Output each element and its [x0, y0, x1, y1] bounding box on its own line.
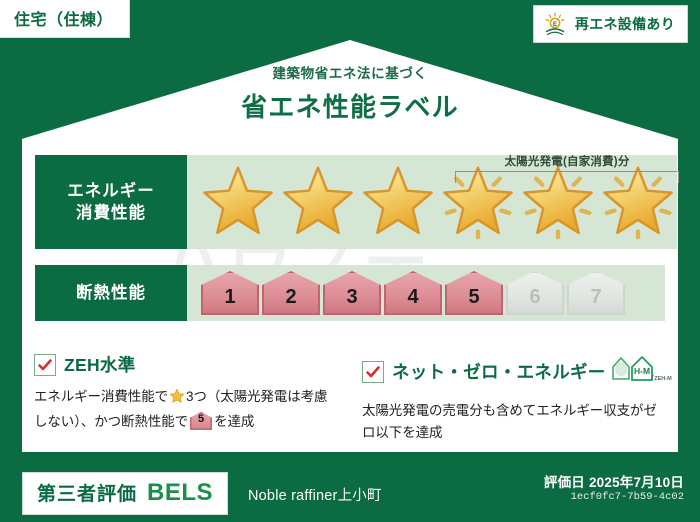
star-1 [199, 163, 277, 241]
insulation-grade-7: 7 [567, 271, 625, 315]
energy-consumption-row: エネルギー 消費性能 太陽光発電(自家消費)分 [35, 155, 665, 249]
page-title: 建築物省エネ法に基づく 省エネ性能ラベル [0, 62, 700, 124]
energy-consumption-label: エネルギー 消費性能 [35, 155, 187, 249]
bels-badge: 第三者評価 BELS [22, 472, 228, 515]
insulation-grades-panel: 1234567 [187, 265, 665, 321]
grade-number: 4 [407, 286, 418, 315]
grade-number: 5 [468, 286, 479, 315]
star-3 [359, 163, 437, 241]
insulation-performance-row: 断熱性能 1234567 [35, 265, 665, 321]
grade-number: 7 [590, 286, 601, 315]
zeh-text-part1: エネルギー消費性能で [34, 389, 168, 404]
zeh-m-logo-text: H-M [634, 366, 650, 376]
inline-grade-badge: 5 [190, 412, 212, 430]
footer: 第三者評価 BELS Noble raffiner上小町 評価日 2025年7月… [0, 460, 700, 522]
insulation-grade-1: 1 [201, 271, 259, 315]
zeh-title: ZEH水準 [64, 352, 136, 377]
zeh-checkbox [34, 354, 56, 376]
insulation-grade-2: 2 [262, 271, 320, 315]
insulation-label-text: 断熱性能 [76, 282, 146, 304]
energy-label-line2: 消費性能 [76, 202, 146, 224]
grade-number: 3 [346, 286, 357, 315]
check-icon [37, 357, 53, 373]
energy-stars-panel: 太陽光発電(自家消費)分 [187, 155, 677, 249]
zeh-description: エネルギー消費性能で3つ（太陽光発電は考慮しない）、かつ断熱性能で5を達成 [34, 386, 340, 433]
solar-bracket [455, 171, 679, 183]
building-type-label: 住宅（住棟） [14, 12, 113, 29]
solar-sun-icon: E [542, 11, 568, 37]
nzeb-criterion: ネット・ゼロ・エネルギー H-M 「ZEH-M」 太陽光発電の売電分も含めてエネ… [362, 352, 668, 444]
criteria-section: ZEH水準 エネルギー消費性能で3つ（太陽光発電は考慮しない）、かつ断熱性能で5… [34, 352, 674, 444]
evaluation-id: 1ecf0fc7-7b59-4c02 [571, 491, 684, 503]
nzeb-checkbox [362, 361, 384, 383]
inline-grade-number: 5 [190, 412, 212, 430]
nzeb-title: ネット・ゼロ・エネルギー [392, 359, 606, 384]
renewable-energy-badge: E 再エネ設備あり [533, 5, 688, 43]
star-2 [279, 163, 357, 241]
grade-number: 1 [224, 286, 235, 315]
bels-en-label: BELS [147, 479, 213, 507]
inline-star-icon [169, 388, 185, 411]
nzeb-criterion-header: ネット・ゼロ・エネルギー H-M 「ZEH-M」 [362, 352, 668, 391]
solar-annotation-text: 太陽光発電(自家消費)分 [453, 153, 681, 169]
insulation-grade-3: 3 [323, 271, 381, 315]
renewable-energy-label: 再エネ設備あり [575, 14, 675, 34]
zeh-text-part3: を達成 [214, 414, 254, 429]
evaluation-date: 評価日 2025年7月10日 [544, 471, 684, 491]
zeh-criterion: ZEH水準 エネルギー消費性能で3つ（太陽光発電は考慮しない）、かつ断熱性能で5… [34, 352, 340, 444]
nzeb-description: 太陽光発電の売電分も含めてエネルギー収支がゼロ以下を達成 [362, 400, 668, 444]
insulation-grade-5: 5 [445, 271, 503, 315]
svg-text:E: E [553, 22, 557, 28]
zeh-m-logo-caption: 「ZEH-M」 [648, 374, 671, 382]
grade-number: 6 [529, 286, 540, 315]
insulation-grade-6: 6 [506, 271, 564, 315]
energy-label-line1: エネルギー [67, 180, 155, 202]
zeh-m-logo: H-M 「ZEH-M」 [610, 352, 672, 391]
zeh-star-count: 3つ [186, 389, 207, 404]
grade-number: 2 [285, 286, 296, 315]
insulation-grade-scale: 1234567 [187, 271, 625, 315]
building-type-tag: 住宅（住棟） [0, 0, 130, 38]
check-icon [365, 364, 381, 380]
property-name: Noble raffiner上小町 [248, 484, 382, 505]
title-main: 省エネ性能ラベル [0, 87, 700, 124]
energy-performance-label: 住宅（住棟） E 再エネ設備あり 建築物省エネ法に基づく 省エネ性能ラベル ハウ… [0, 0, 700, 522]
insulation-grade-4: 4 [384, 271, 442, 315]
bels-jp-label: 第三者評価 [37, 479, 137, 506]
insulation-label: 断熱性能 [35, 265, 187, 321]
title-subtitle: 建築物省エネ法に基づく [0, 62, 700, 82]
zeh-criterion-header: ZEH水準 [34, 352, 340, 377]
